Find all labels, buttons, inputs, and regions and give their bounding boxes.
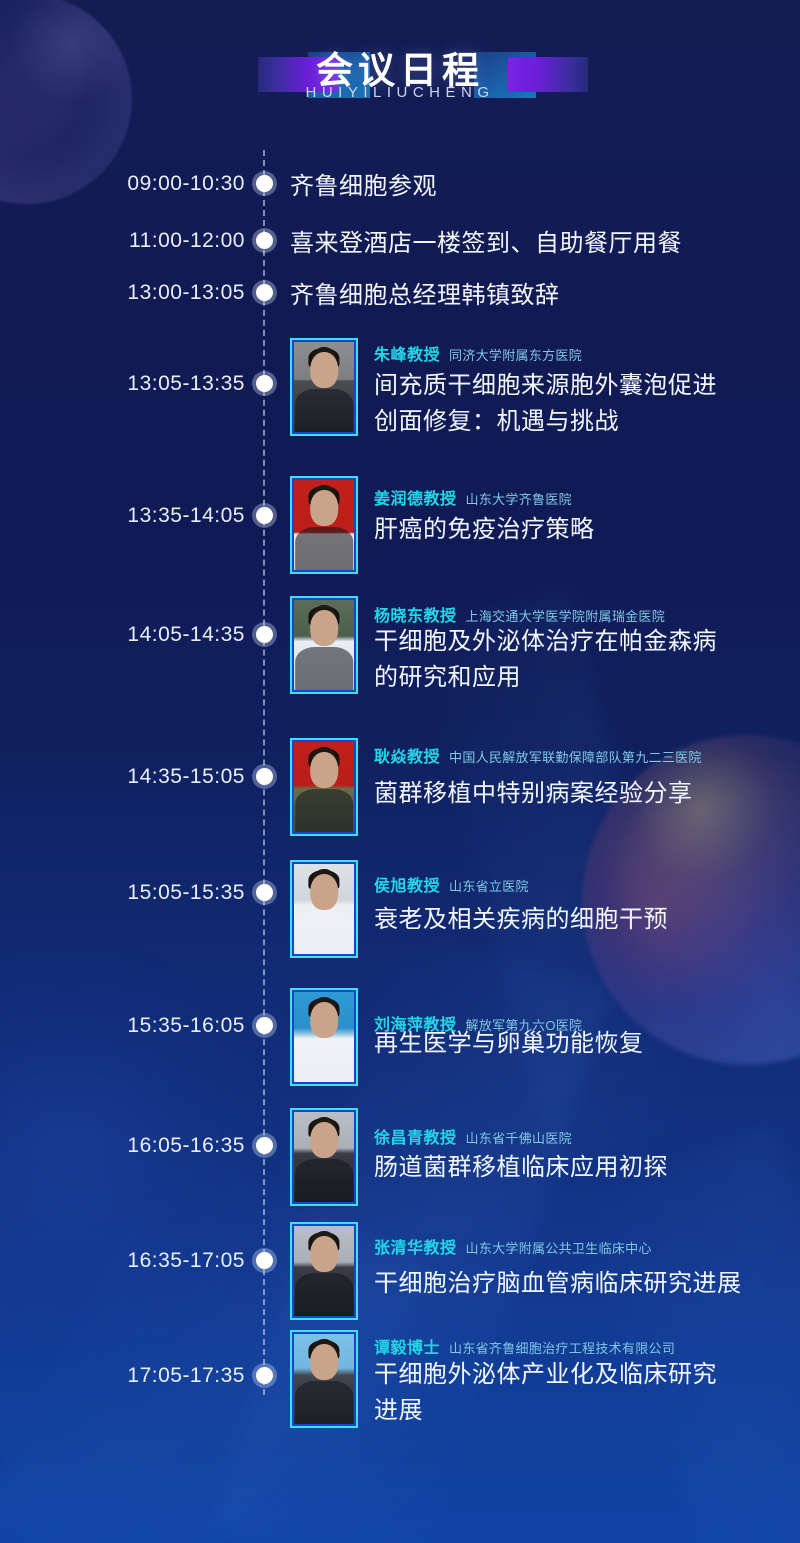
speaker-name: 朱峰教授 xyxy=(374,341,440,365)
speaker-organization: 同济大学附属东方医院 xyxy=(449,345,582,364)
timeline-dot-icon xyxy=(256,884,273,901)
speaker-meta: 朱峰教授同济大学附属东方医院 xyxy=(374,341,582,365)
timeline-dot-icon xyxy=(256,375,273,392)
timeline-dot-icon xyxy=(256,626,273,643)
light-streak-3 xyxy=(0,1135,437,1543)
speaker-meta: 姜润德教授山东大学齐鲁医院 xyxy=(374,485,572,509)
row-time: 16:35-17:05 xyxy=(60,1249,245,1273)
session-topic: 干细胞外泌体产业化及临床研究 进展 xyxy=(374,1357,717,1429)
speaker-name: 姜润德教授 xyxy=(374,485,457,509)
speaker-name: 杨晓东教授 xyxy=(374,602,457,626)
timeline-dot-icon xyxy=(256,1017,273,1034)
row-time: 13:00-13:05 xyxy=(60,281,245,305)
speaker-organization: 山东大学附属公共卫生临床中心 xyxy=(466,1238,652,1257)
speaker-meta: 谭毅博士山东省齐鲁细胞治疗工程技术有限公司 xyxy=(374,1334,675,1358)
speaker-organization: 上海交通大学医学院附属瑞金医院 xyxy=(466,606,666,625)
timeline-dot-icon xyxy=(256,1367,273,1384)
page-subtitle: HUIYILIUCHENG xyxy=(0,84,800,101)
speaker-meta: 徐昌青教授山东省千佛山医院 xyxy=(374,1124,572,1148)
speaker-photo xyxy=(290,1222,358,1320)
session-topic: 齐鲁细胞参观 xyxy=(290,166,437,201)
speaker-name: 谭毅博士 xyxy=(374,1334,440,1358)
timeline-dot-icon xyxy=(256,284,273,301)
session-topic: 间充质干细胞来源胞外囊泡促进 创面修复：机遇与挑战 xyxy=(374,368,717,440)
speaker-photo xyxy=(290,476,358,574)
timeline-dot-icon xyxy=(256,507,273,524)
speaker-organization: 山东大学齐鲁医院 xyxy=(466,489,572,508)
row-time: 16:05-16:35 xyxy=(60,1134,245,1158)
row-time: 17:05-17:35 xyxy=(60,1364,245,1388)
session-topic: 肠道菌群移植临床应用初探 xyxy=(374,1150,668,1186)
speaker-photo xyxy=(290,988,358,1086)
speaker-meta: 耿焱教授中国人民解放军联勤保障部队第九二三医院 xyxy=(374,743,702,767)
speaker-photo xyxy=(290,1330,358,1428)
session-topic: 干细胞及外泌体治疗在帕金森病 的研究和应用 xyxy=(374,624,717,696)
timeline-dot-icon xyxy=(256,1137,273,1154)
speaker-name: 侯旭教授 xyxy=(374,872,440,896)
row-time: 09:00-10:30 xyxy=(60,172,245,196)
timeline-dot-icon xyxy=(256,175,273,192)
speaker-photo xyxy=(290,596,358,694)
timeline-dot-icon xyxy=(256,1252,273,1269)
timeline-dot-icon xyxy=(256,232,273,249)
speaker-photo xyxy=(290,338,358,436)
speaker-meta: 侯旭教授山东省立医院 xyxy=(374,872,529,896)
session-topic: 肝癌的免疫治疗策略 xyxy=(374,512,595,548)
speaker-photo xyxy=(290,860,358,958)
speaker-organization: 中国人民解放军联勤保障部队第九二三医院 xyxy=(449,747,702,766)
row-time: 15:05-15:35 xyxy=(60,881,245,905)
session-topic: 干细胞治疗脑血管病临床研究进展 xyxy=(374,1266,742,1302)
speaker-meta: 张清华教授山东大学附属公共卫生临床中心 xyxy=(374,1234,652,1258)
session-topic: 喜来登酒店一楼签到、自助餐厅用餐 xyxy=(290,223,682,258)
speaker-organization: 山东省千佛山医院 xyxy=(466,1128,572,1147)
row-time: 14:35-15:05 xyxy=(60,765,245,789)
speaker-name: 张清华教授 xyxy=(374,1234,457,1258)
speaker-organization: 山东省齐鲁细胞治疗工程技术有限公司 xyxy=(449,1338,675,1357)
session-topic: 齐鲁细胞总经理韩镇致辞 xyxy=(290,275,560,310)
row-time: 13:05-13:35 xyxy=(60,372,245,396)
page-header: 会议日程 HUIYILIUCHENG xyxy=(0,0,800,132)
row-time: 14:05-14:35 xyxy=(60,623,245,647)
session-topic: 再生医学与卵巢功能恢复 xyxy=(374,1026,644,1062)
speaker-photo xyxy=(290,738,358,836)
speaker-organization: 山东省立医院 xyxy=(449,876,529,895)
speaker-photo xyxy=(290,1108,358,1206)
row-time: 11:00-12:00 xyxy=(60,229,245,253)
row-time: 15:35-16:05 xyxy=(60,1014,245,1038)
speaker-meta: 杨晓东教授上海交通大学医学院附属瑞金医院 xyxy=(374,602,665,626)
session-topic: 衰老及相关疾病的细胞干预 xyxy=(374,902,668,938)
timeline-dot-icon xyxy=(256,768,273,785)
speaker-name: 耿焱教授 xyxy=(374,743,440,767)
speaker-name: 徐昌青教授 xyxy=(374,1124,457,1148)
session-topic: 菌群移植中特别病案经验分享 xyxy=(374,776,693,812)
row-time: 13:35-14:05 xyxy=(60,504,245,528)
